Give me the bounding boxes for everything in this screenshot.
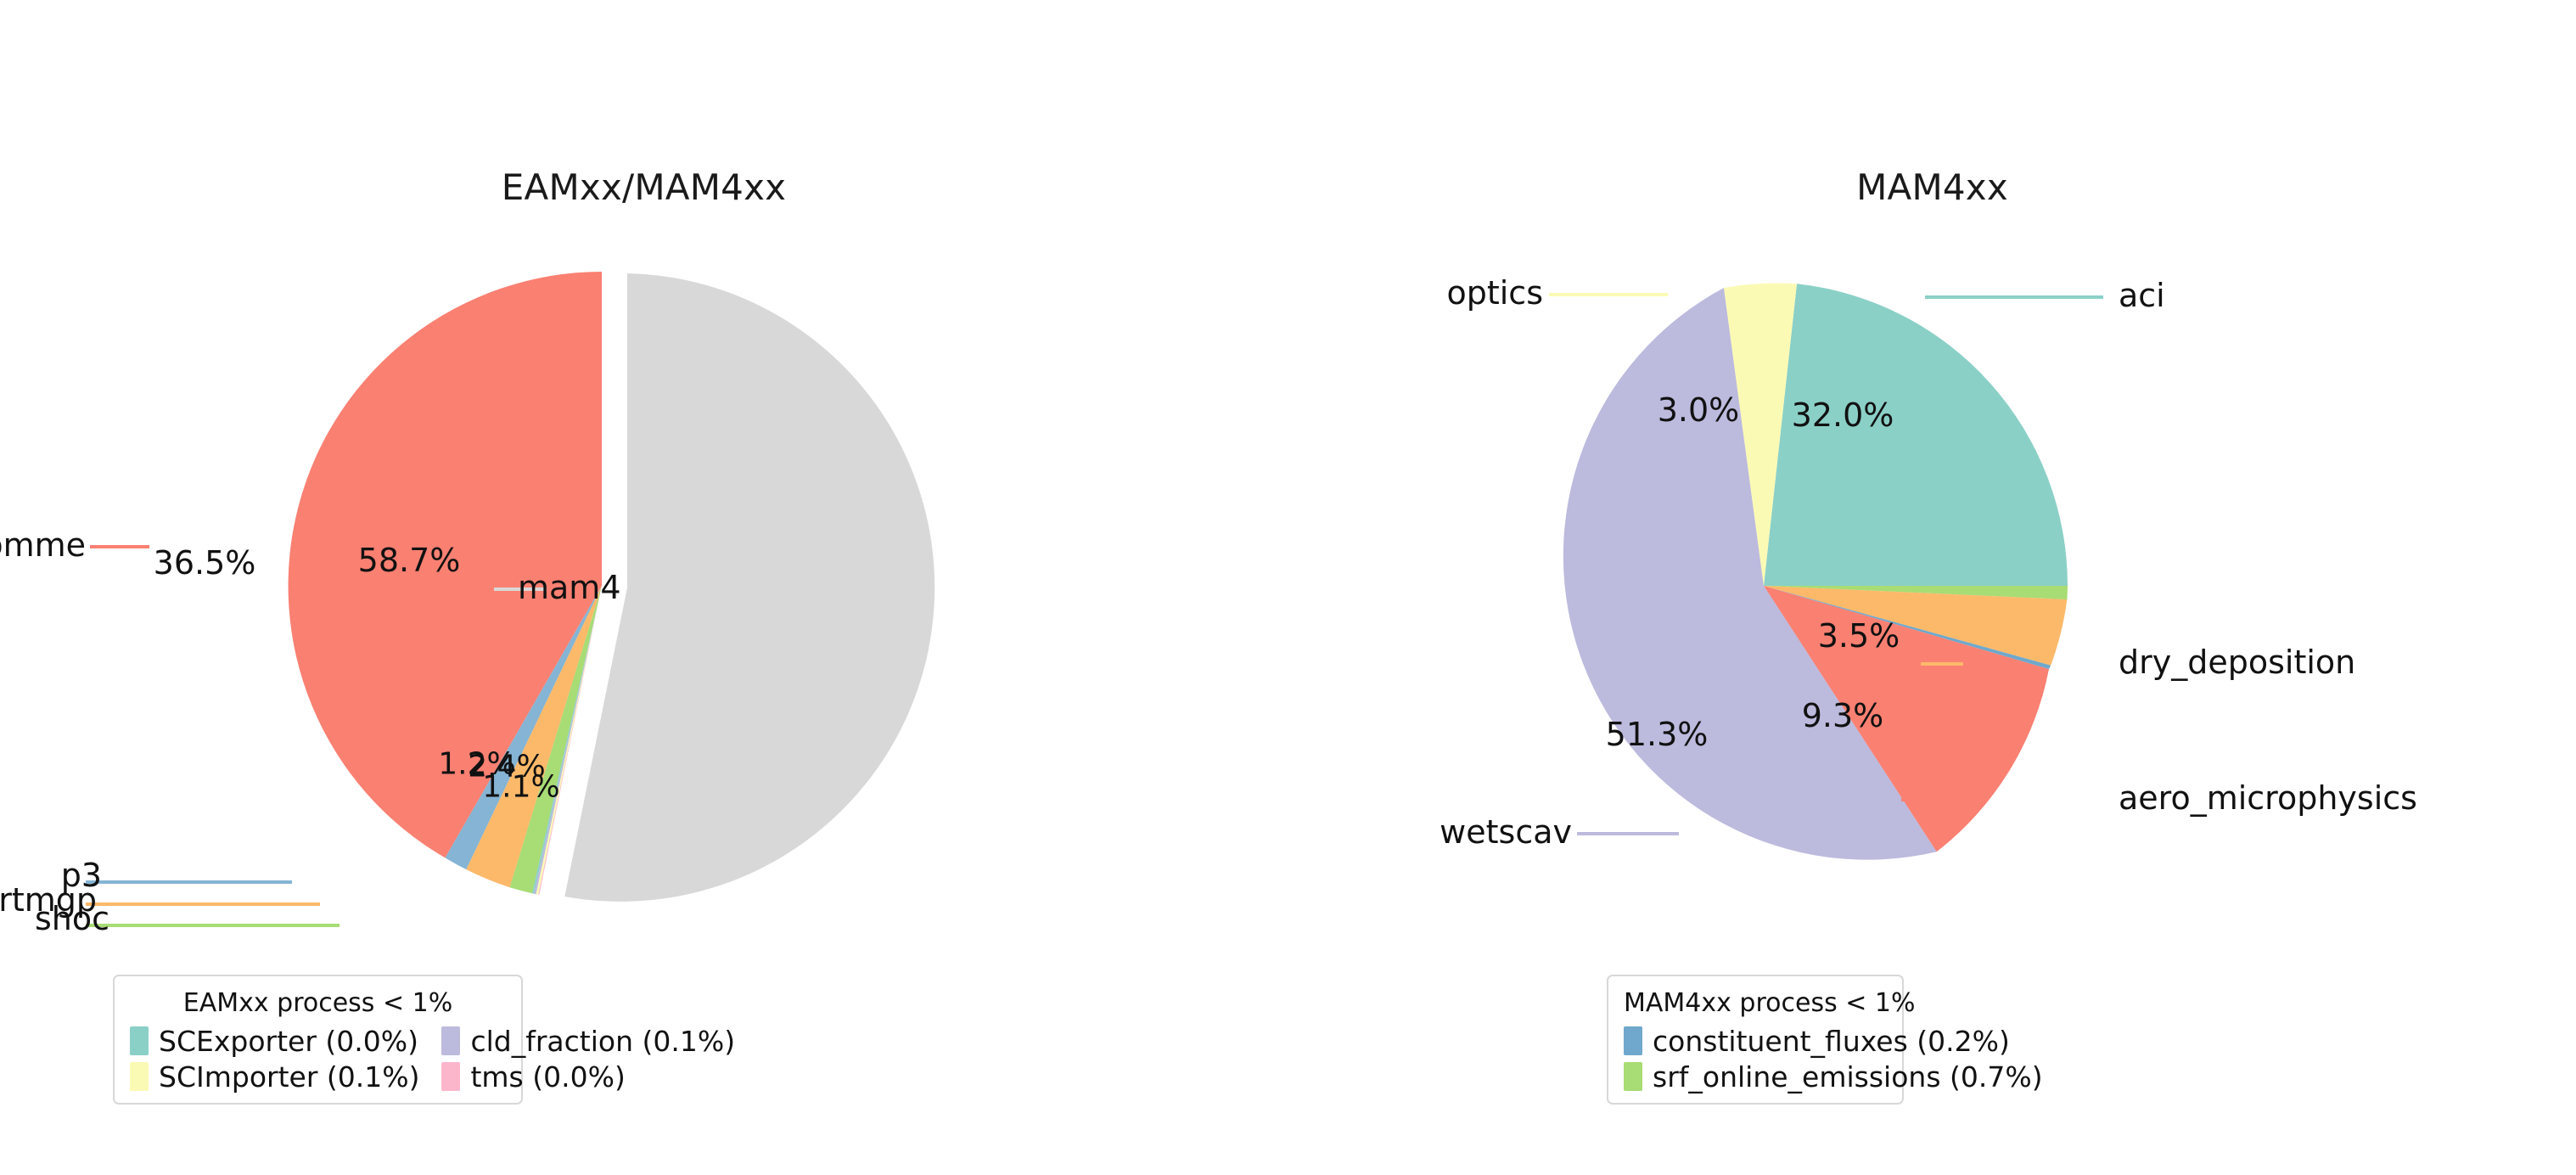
leader-optics: [1549, 293, 1668, 296]
pie-slice-aci: [1764, 284, 2068, 586]
pie-panel-mam4xx: MAM4xx 32.0% 3.5% 9.3% 51.3: [1288, 0, 2576, 1175]
pct-homme: 36.5%: [154, 544, 256, 582]
legend-left-items: SCExporter (0.0%) cld_fraction (0.1%) SC…: [130, 1026, 506, 1091]
leader-shoc: [86, 924, 340, 927]
pie-svg-right: [1288, 0, 2576, 1175]
pct-shoc: 1.1%: [482, 770, 559, 805]
label-shoc: shoc: [35, 900, 109, 937]
legend-left: EAMxx process < 1% SCExporter (0.0%) cld…: [113, 975, 523, 1105]
leader-homme: [90, 545, 149, 548]
pie-right-graphic: [1288, 0, 2576, 1175]
leader-rrtmgp: [86, 902, 320, 906]
leader-wetscav: [1577, 832, 1679, 835]
figure-canvas: EAMxx/MAM4xx: [0, 0, 2576, 1175]
legend-item-label: constituent_fluxes (0.2%): [1653, 1027, 2010, 1055]
label-dry-deposition: dry_deposition: [2119, 644, 2355, 681]
label-aero-microphysics: aero_microphysics: [2119, 779, 2417, 817]
label-mam4-text: mam4: [518, 569, 621, 606]
legend-left-title: EAMxx process < 1%: [130, 988, 506, 1018]
legend-item[interactable]: SCImporter (0.1%): [130, 1062, 419, 1091]
label-aci: aci: [2119, 277, 2165, 314]
pct-wetscav: 51.3%: [1606, 716, 1709, 753]
legend-item-label: tms (0.0%): [470, 1063, 625, 1091]
leader-aero-microphysics: [1901, 798, 1944, 801]
legend-item[interactable]: cld_fraction (0.1%): [441, 1026, 735, 1055]
legend-right: MAM4xx process < 1% constituent_fluxes (…: [1607, 975, 1904, 1105]
legend-item[interactable]: srf_online_emissions (0.7%): [1624, 1062, 2043, 1091]
legend-swatch-icon: [130, 1026, 149, 1055]
pie-panel-eamxx: EAMxx/MAM4xx: [0, 0, 1288, 1175]
pct-aero-microphysics: 9.3%: [1802, 697, 1884, 734]
legend-swatch-icon: [1624, 1026, 1642, 1055]
label-mam4: mam4: [518, 569, 621, 606]
pct-aci: 32.0%: [1792, 396, 1894, 434]
pct-optics: 3.0%: [1658, 391, 1740, 429]
leader-p3: [86, 880, 292, 884]
pct-mam4: 58.7%: [358, 542, 461, 579]
legend-swatch-icon: [1624, 1062, 1642, 1091]
label-homme: homme: [0, 526, 86, 564]
legend-item-label: srf_online_emissions (0.7%): [1653, 1063, 2043, 1091]
label-wetscav: wetscav: [1440, 813, 1572, 851]
leader-dry-deposition: [1921, 662, 1963, 666]
legend-item-label: SCImporter (0.1%): [159, 1063, 419, 1091]
legend-swatch-icon: [441, 1062, 460, 1091]
legend-swatch-icon: [441, 1026, 460, 1055]
leader-aci: [1925, 295, 2103, 299]
legend-item-label: cld_fraction (0.1%): [470, 1027, 735, 1055]
legend-item[interactable]: tms (0.0%): [441, 1062, 735, 1091]
legend-item-label: SCExporter (0.0%): [159, 1027, 418, 1055]
label-optics: optics: [1446, 274, 1543, 312]
legend-swatch-icon: [130, 1062, 149, 1091]
legend-right-title: MAM4xx process < 1%: [1624, 988, 1887, 1018]
legend-item[interactable]: constituent_fluxes (0.2%): [1624, 1026, 2043, 1055]
legend-right-items: constituent_fluxes (0.2%) srf_online_emi…: [1624, 1026, 1887, 1091]
legend-item[interactable]: SCExporter (0.0%): [130, 1026, 419, 1055]
pct-dry-deposition: 3.5%: [1818, 617, 1900, 655]
